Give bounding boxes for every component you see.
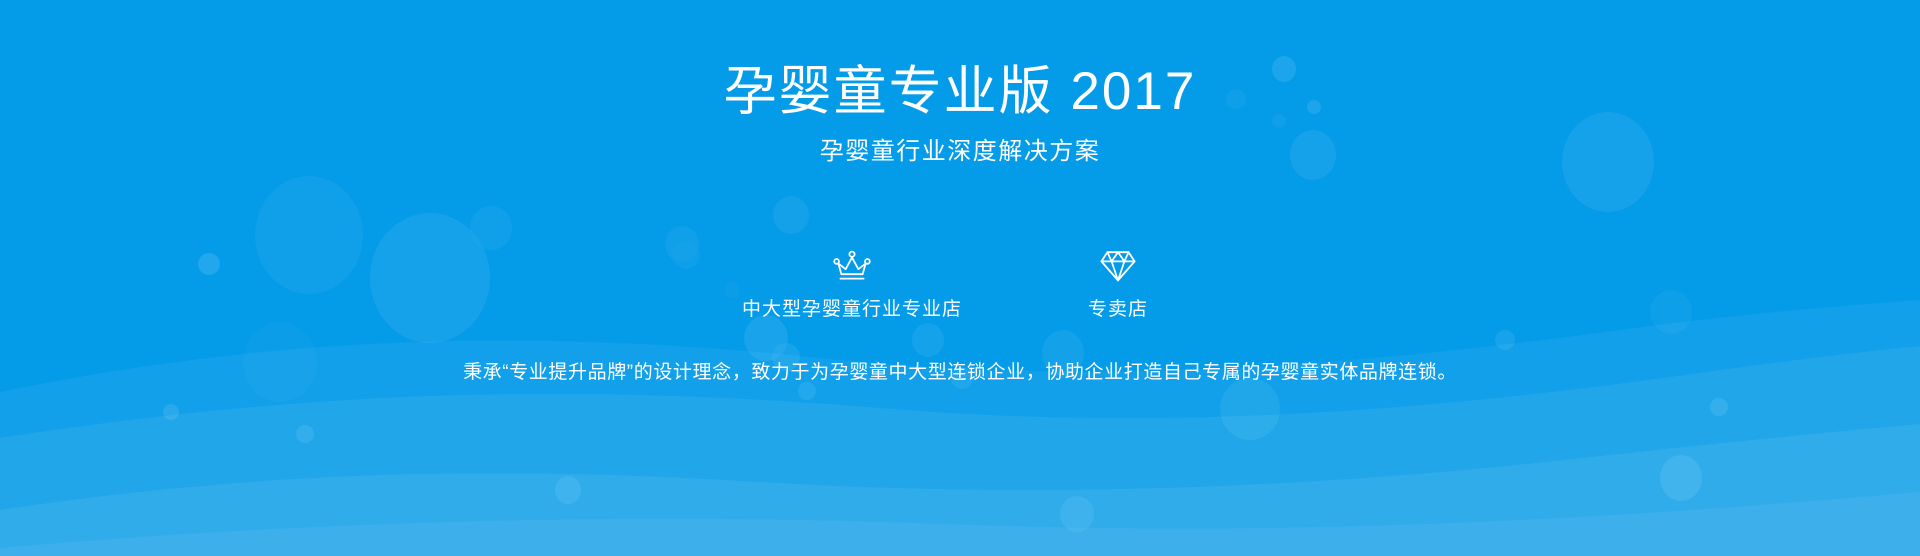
feature-item-exclusive-store[interactable]: 专卖店: [1058, 249, 1178, 322]
feature-label: 中大型孕婴童行业专业店: [742, 299, 962, 322]
crown-icon: [832, 249, 872, 283]
feature-label: 专卖店: [1088, 299, 1148, 322]
feature-list: 中大型孕婴童行业专业店 专卖店: [742, 249, 1178, 322]
feature-item-professional-store[interactable]: 中大型孕婴童行业专业店: [742, 249, 962, 322]
page-title: 孕婴童专业版 2017: [724, 0, 1197, 121]
banner-tagline: 秉承“专业提升品牌”的设计理念，致力于为孕婴童中大型连锁企业，协助企业打造自己专…: [463, 360, 1457, 387]
page-subtitle: 孕婴童行业深度解决方案: [820, 121, 1101, 167]
banner-content: 孕婴童专业版 2017 孕婴童行业深度解决方案 中大型孕婴童行业专业店: [0, 0, 1920, 556]
diamond-icon: [1100, 249, 1136, 283]
hero-banner: 孕婴童专业版 2017 孕婴童行业深度解决方案 中大型孕婴童行业专业店: [0, 0, 1920, 556]
